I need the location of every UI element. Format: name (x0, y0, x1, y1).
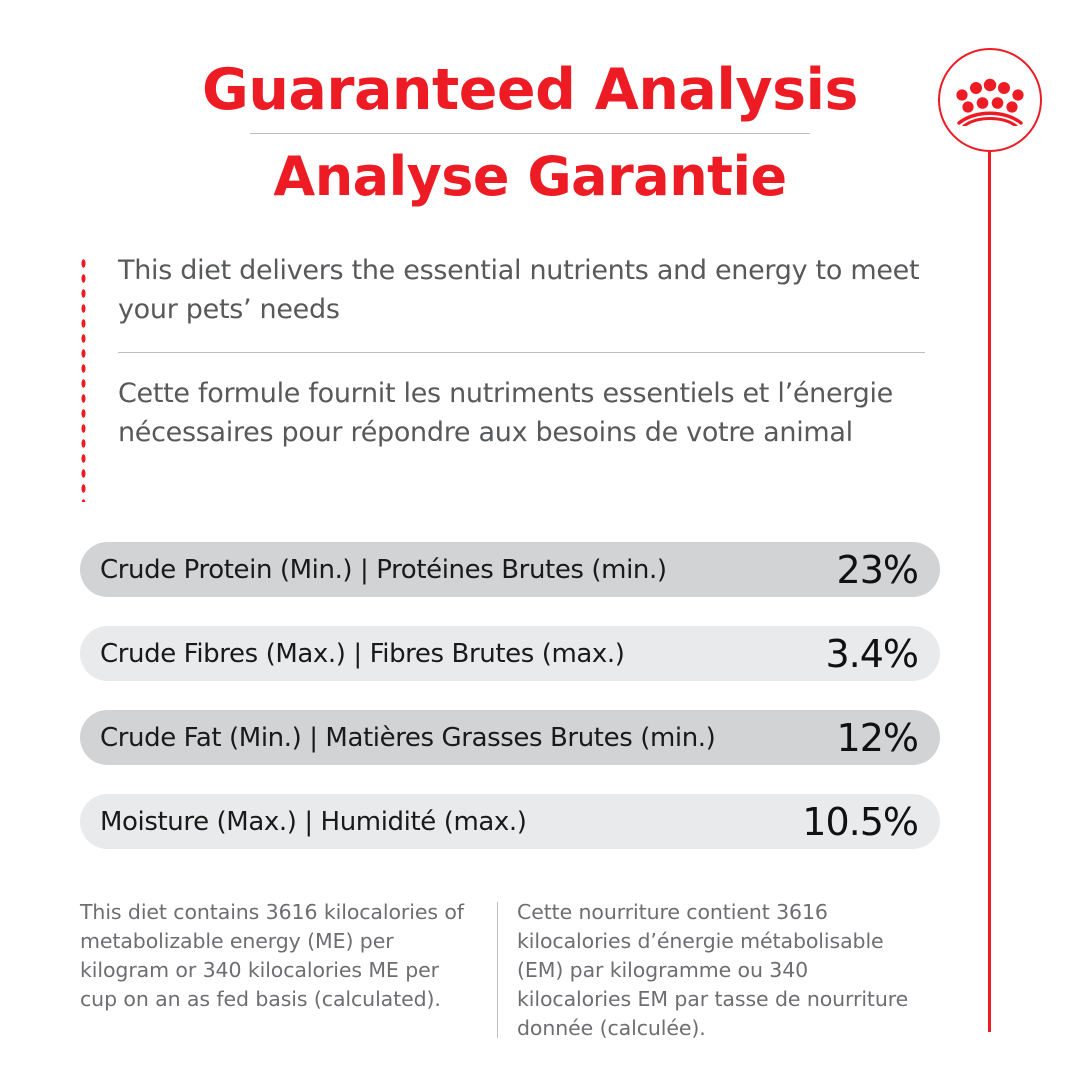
footer-text-en: This diet contains 3616 kilocalories of … (80, 898, 478, 1044)
description-text-fr: Cette formule fournit les nutriments ess… (118, 375, 940, 453)
description-text-en: This diet delivers the essential nutrien… (118, 252, 940, 330)
nutrient-label: Crude Protein (Min.) | Protéines Brutes … (100, 555, 667, 585)
guaranteed-analysis-panel: Guaranteed Analysis Analyse Garantie Thi… (0, 0, 1080, 1080)
nutrient-table: Crude Protein (Min.) | Protéines Brutes … (80, 542, 940, 878)
page-title: Guaranteed Analysis Analyse Garantie (120, 62, 940, 204)
footer-block: This diet contains 3616 kilocalories of … (80, 898, 976, 1044)
nutrient-row-fibres: Crude Fibres (Max.) | Fibres Brutes (max… (80, 626, 940, 681)
description-block: This diet delivers the essential nutrien… (80, 252, 940, 453)
nutrient-label: Crude Fat (Min.) | Matières Grasses Brut… (100, 723, 715, 753)
nutrient-row-moisture: Moisture (Max.) | Humidité (max.) 10.5% (80, 794, 940, 849)
royal-canin-logo (938, 48, 1042, 152)
description-divider (118, 352, 925, 353)
dotted-accent-rail (80, 256, 87, 502)
page-title-en: Guaranteed Analysis (120, 62, 940, 119)
nutrient-row-fat: Crude Fat (Min.) | Matières Grasses Brut… (80, 710, 940, 765)
logo-vertical-rule (988, 150, 991, 1032)
page-title-fr: Analyse Garantie (120, 150, 940, 204)
title-divider (250, 133, 810, 134)
nutrient-value: 10.5% (802, 803, 918, 841)
nutrient-value: 3.4% (825, 635, 918, 673)
nutrient-label: Moisture (Max.) | Humidité (max.) (100, 807, 527, 837)
footer-divider (497, 902, 498, 1038)
nutrient-label: Crude Fibres (Max.) | Fibres Brutes (max… (100, 639, 625, 669)
nutrient-row-protein: Crude Protein (Min.) | Protéines Brutes … (80, 542, 940, 597)
footer-text-fr: Cette nourriture contient 3616 kilocalor… (517, 898, 915, 1044)
royal-canin-crown-icon (955, 74, 1025, 126)
nutrient-value: 12% (837, 719, 918, 757)
nutrient-value: 23% (837, 551, 918, 589)
